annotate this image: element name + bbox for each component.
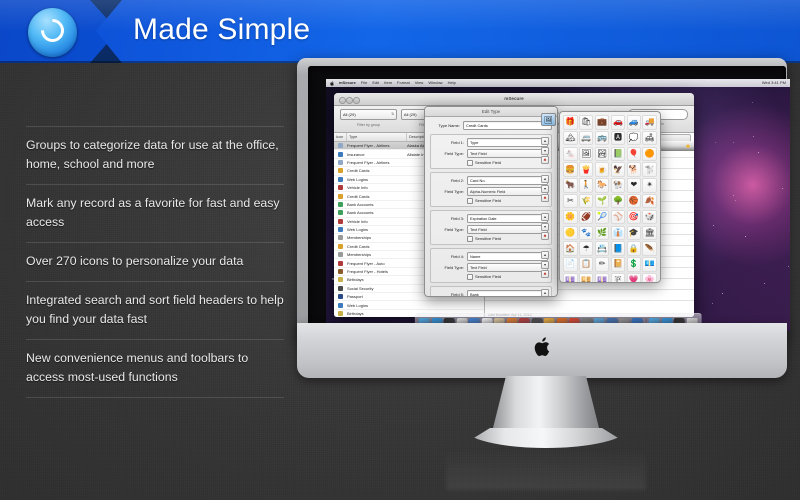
- delete-field-icon[interactable]: ✖: [541, 232, 549, 240]
- imac-chin: [297, 323, 787, 378]
- smile-circle-logo-icon: [28, 8, 77, 57]
- record-type-icon: [334, 143, 347, 148]
- field-group: Field 5:BankField Type:Text Field⇅Sensit…: [430, 286, 552, 297]
- record-type: Vehicle Info: [347, 219, 407, 224]
- icon-picker-cell[interactable]: 🌳: [611, 194, 626, 209]
- icon-picker-cell[interactable]: 🇵: [611, 273, 626, 283]
- icon-picker-cell[interactable]: 🏈: [579, 210, 594, 225]
- icon-picker-cell[interactable]: 🌸: [642, 273, 657, 283]
- header-banner: Made Simple: [0, 0, 800, 63]
- icon-picker-cell[interactable]: 💼: [595, 115, 610, 130]
- record-type: Frequent Flyer - Auto: [347, 261, 407, 266]
- icon-picker-cell[interactable]: 📘: [611, 241, 626, 256]
- move-up-icon[interactable]: ▲: [541, 213, 549, 221]
- delete-field-icon[interactable]: ✖: [541, 194, 549, 202]
- icon-picker-cell[interactable]: 🏀: [627, 194, 642, 209]
- group-filter-caption: Filter by group: [340, 123, 397, 127]
- menubar-item[interactable]: File: [361, 79, 367, 87]
- menubar-item[interactable]: Edit: [372, 79, 379, 87]
- field-index-label: Field 1:: [434, 140, 464, 145]
- imac-stand-neck: [492, 376, 600, 432]
- icon-picker-cell[interactable]: 🛋: [642, 131, 657, 146]
- chevron-updown-icon: ⇅: [391, 113, 394, 116]
- icon-picker-cell[interactable]: 📇: [595, 241, 610, 256]
- field-name-row: Field 1:Type: [434, 138, 548, 147]
- icon-picker-cell[interactable]: 💶: [642, 257, 657, 272]
- list-item: New convenience menus and toolbars to ac…: [26, 340, 284, 398]
- icon-picker-cell[interactable]: 🚐: [579, 131, 594, 146]
- icon-picker-cell[interactable]: 🐕: [627, 162, 642, 177]
- list-item: Integrated search and sort field headers…: [26, 282, 284, 340]
- icon-picker-cell[interactable]: 🛍: [579, 115, 594, 130]
- field-name-row: Field 3:Expiration Date: [434, 214, 548, 223]
- star-dot: [712, 303, 713, 304]
- icon-picker-cell[interactable]: 🔒: [627, 241, 642, 256]
- record-type: Frequent Flyer - Airlines: [347, 160, 407, 165]
- icon-picker-cell[interactable]: 🍺: [595, 162, 610, 177]
- record-type-icon: [334, 252, 347, 257]
- field-row-buttons: ▲▼✖: [541, 175, 549, 202]
- record-type-icon: [334, 303, 347, 308]
- record-type-icon: [334, 294, 347, 299]
- icon-picker-cell[interactable]: 🖼: [579, 147, 594, 162]
- type-name-input[interactable]: Credit Cards: [463, 121, 552, 130]
- record-type: Birthdays: [347, 311, 407, 316]
- sensitive-field-row[interactable]: Sensitive Field: [434, 274, 548, 280]
- icon-picker-cell[interactable]: 🦅: [611, 162, 626, 177]
- field-name-input[interactable]: Name: [467, 252, 548, 261]
- record-type: Memberships: [347, 252, 407, 257]
- field-type-label: Field Type:: [434, 227, 464, 232]
- icon-picker-palette[interactable]: 🎁🛍💼🚗🚙🚚🏔🚐🚌🅰💭🛋🐁🖼🏞📗🎈🟠🍔🍟🍺🦅🐕🐩🐂🚶🐎🐏❤✴✂🌾🌱🌳🏀🍂🌼🏈🎾⚾…: [559, 111, 661, 283]
- field-index-label: Field 2:: [434, 178, 464, 183]
- record-type: Web Logins: [347, 177, 407, 182]
- icon-picker-cell[interactable]: 🎈: [627, 147, 642, 162]
- record-type-icon: [334, 185, 347, 190]
- page-title: Made Simple: [133, 13, 310, 47]
- field-type-select[interactable]: Alpha-Numeric Field⇅: [467, 187, 548, 196]
- column-header-icon[interactable]: Icon: [334, 133, 347, 141]
- field-type-value: Text Field: [470, 227, 487, 232]
- icon-picker-cell[interactable]: 💭: [627, 131, 642, 146]
- field-type-select[interactable]: Text Field⇅: [467, 263, 548, 272]
- star-dot: [722, 293, 723, 294]
- record-type: Passport: [347, 294, 407, 299]
- record-type-icon: [334, 168, 347, 173]
- field-name-input[interactable]: Type: [467, 138, 548, 147]
- window-title: mSecure: [334, 96, 694, 101]
- sensitive-field-row[interactable]: Sensitive Field: [434, 160, 548, 166]
- field-type-select[interactable]: Text Field⇅: [467, 149, 548, 158]
- imac-bezel: mSecure File Edit Item Format View Windo…: [308, 66, 786, 330]
- field-row-buttons: ▲▼✖: [541, 251, 549, 278]
- sensitive-field-checkbox[interactable]: [467, 236, 473, 242]
- menubar-item[interactable]: Window: [428, 79, 442, 87]
- field-group: Field 1:TypeField Type:Text Field⇅Sensit…: [430, 134, 552, 169]
- record-type-icon: [334, 210, 347, 215]
- record-type-icon: [334, 152, 347, 157]
- field-row-buttons: ▲▼✖: [541, 213, 549, 240]
- icon-picker-cell[interactable]: 💴: [579, 273, 594, 283]
- record-type: Credit Cards: [347, 168, 407, 173]
- move-down-icon[interactable]: ▼: [541, 223, 549, 231]
- field-index-label: Field 3:: [434, 216, 464, 221]
- icon-picker-cell[interactable]: 🍔: [563, 162, 578, 177]
- record-type: Memberships: [347, 235, 407, 240]
- move-up-icon[interactable]: ▲: [541, 137, 549, 145]
- field-type-row: Field Type:Text Field⇅: [434, 263, 548, 272]
- field-type-row: Field Type:Text Field⇅: [434, 225, 548, 234]
- macos-menubar[interactable]: mSecure File Edit Item Format View Windo…: [326, 79, 790, 87]
- delete-field-icon[interactable]: ✖: [541, 156, 549, 164]
- sensitive-field-checkbox[interactable]: [467, 198, 473, 204]
- record-type: Web Logins: [347, 303, 407, 308]
- record-type: Credit Cards: [347, 244, 407, 249]
- record-type: Insurance: [347, 152, 407, 157]
- field-name-input[interactable]: Bank: [467, 290, 548, 298]
- icon-picker-cell[interactable]: ☂: [579, 241, 594, 256]
- icon-picker-cell[interactable]: 📗: [611, 147, 626, 162]
- icon-picker-cell[interactable]: 📋: [579, 257, 594, 272]
- field-type-label: Field Type:: [434, 265, 464, 270]
- record-type-icon: [334, 269, 347, 274]
- record-type-icon: [334, 286, 347, 291]
- icon-picker-cell[interactable]: 🏠: [563, 241, 578, 256]
- menubar-item[interactable]: mSecure: [339, 79, 356, 87]
- icon-picker-cell[interactable]: 🅰: [611, 131, 626, 146]
- field-type-select[interactable]: Text Field⇅: [467, 225, 548, 234]
- menubar-item[interactable]: Item: [384, 79, 392, 87]
- icon-picker-cell[interactable]: 🎓: [627, 226, 642, 241]
- dialog-body: Type Name: Credit Cards Field 1:TypeFiel…: [425, 117, 557, 297]
- group-filter-select[interactable]: All (29) ⇅: [340, 109, 397, 120]
- star-dot: [758, 152, 759, 153]
- field-type-row: Field Type:Text Field⇅: [434, 149, 548, 158]
- menubar-item[interactable]: View: [415, 79, 424, 87]
- record-type-icon: [334, 277, 347, 282]
- icon-picker-cell[interactable]: ✴: [642, 178, 657, 193]
- column-header-type[interactable]: Type: [347, 133, 407, 141]
- star-dot: [788, 266, 789, 267]
- icon-picker-cell[interactable]: 🐁: [563, 147, 578, 162]
- menubar-status-item[interactable]: Wed 3:41 PM: [762, 79, 786, 87]
- star-dot: [733, 195, 734, 196]
- sensitive-field-checkbox[interactable]: [467, 274, 473, 280]
- field-index-label: Field 4:: [434, 254, 464, 259]
- record-type-icon: [334, 227, 347, 232]
- field-name-row: Field 2:Card No.: [434, 176, 548, 185]
- delete-field-icon[interactable]: ✖: [541, 270, 549, 278]
- icon-picker-cell[interactable]: 🍟: [579, 162, 594, 177]
- star-dot: [745, 236, 746, 237]
- icon-picker-cell[interactable]: 🎁: [563, 115, 578, 130]
- icon-picker-cell[interactable]: 🐎: [595, 178, 610, 193]
- field-type-row: Field Type:Alpha-Numeric Field⇅: [434, 187, 548, 196]
- dialog-title: Edit Type: [425, 107, 557, 117]
- move-up-icon[interactable]: ▲: [541, 251, 549, 259]
- type-icon-button[interactable]: 🖼: [541, 113, 556, 126]
- window-titlebar[interactable]: mSecure: [334, 93, 694, 106]
- record-type: Credit Cards: [347, 194, 407, 199]
- record-type-icon: [334, 311, 347, 316]
- record-type-icon: [334, 194, 347, 199]
- sensitive-field-label: Sensitive Field: [475, 198, 501, 203]
- record-type: Frequent Flyer - Airlines: [347, 143, 407, 148]
- icon-picker-cell[interactable]: 🌱: [595, 194, 610, 209]
- record-type-icon: [334, 219, 347, 224]
- field-name-input[interactable]: Card No.: [467, 176, 548, 185]
- move-down-icon[interactable]: ▼: [541, 185, 549, 193]
- star-dot: [764, 283, 765, 284]
- list-item: Groups to categorize data for use at the…: [26, 126, 284, 185]
- field-name-row: Field 5:Bank: [434, 290, 548, 298]
- type-name-row: Type Name: Credit Cards: [430, 121, 552, 130]
- icon-picker-cell[interactable]: 📄: [563, 257, 578, 272]
- icon-picker-cell[interactable]: 💷: [563, 273, 578, 283]
- icon-picker-cell[interactable]: 🐂: [563, 178, 578, 193]
- icon-picker-cell[interactable]: 🏔: [563, 131, 578, 146]
- move-down-icon[interactable]: ▼: [541, 261, 549, 269]
- icon-picker-cell[interactable]: 🌾: [579, 194, 594, 209]
- icon-picker-cell[interactable]: 👔: [611, 226, 626, 241]
- imac-stand-foot: [464, 428, 628, 448]
- sensitive-field-label: Sensitive Field: [475, 274, 501, 279]
- field-row-buttons: ▲▼✖: [541, 137, 549, 164]
- icon-picker-cell[interactable]: ✂: [563, 194, 578, 209]
- icon-picker-cell[interactable]: ❤: [627, 178, 642, 193]
- field-index-label: Field 5:: [434, 292, 464, 297]
- field-name-row: Field 4:Name: [434, 252, 548, 261]
- field-type-label: Field Type:: [434, 189, 464, 194]
- record-type: Bank Accounts: [347, 210, 407, 215]
- icon-picker-cell[interactable]: 🐩: [642, 162, 657, 177]
- icon-picker-cell[interactable]: 🟡: [563, 226, 578, 241]
- field-type-value: Text Field: [470, 265, 487, 270]
- record-type-icon: [334, 177, 347, 182]
- move-up-icon[interactable]: ▲: [541, 289, 549, 297]
- star-dot: [713, 225, 714, 226]
- icon-picker-cell[interactable]: 🐏: [611, 178, 626, 193]
- type-filter-value: All (29): [404, 112, 417, 117]
- icon-picker-cell[interactable]: 🎯: [627, 210, 642, 225]
- list-item: Mark any record as a favorite for fast a…: [26, 185, 284, 243]
- dialog-fields: Field 1:TypeField Type:Text Field⇅Sensit…: [430, 134, 552, 297]
- icon-grid[interactable]: 🎁🛍💼🚗🚙🚚🏔🚐🚌🅰💭🛋🐁🖼🏞📗🎈🟠🍔🍟🍺🦅🐕🐩🐂🚶🐎🐏❤✴✂🌾🌱🌳🏀🍂🌼🏈🎾⚾…: [563, 115, 657, 283]
- group-filter-value: All (29): [343, 112, 356, 117]
- star-icon[interactable]: [685, 143, 691, 149]
- icon-picker-cell[interactable]: 🏞: [595, 147, 610, 162]
- field-name-input[interactable]: Expiration Date: [467, 214, 548, 223]
- icon-picker-cell[interactable]: 🐾: [579, 226, 594, 241]
- star-dot: [735, 200, 736, 201]
- record-type: Vehicle Info: [347, 185, 407, 190]
- icon-picker-cell[interactable]: 💲: [627, 257, 642, 272]
- record-type: Frequent Flyer - Hotels: [347, 269, 407, 274]
- move-down-icon[interactable]: ▼: [541, 147, 549, 155]
- move-up-icon[interactable]: ▲: [541, 175, 549, 183]
- icon-picker-cell[interactable]: 💗: [627, 273, 642, 283]
- icon-picker-cell[interactable]: 🚗: [611, 115, 626, 130]
- menubar-item[interactable]: Help: [448, 79, 456, 87]
- icon-picker-cell[interactable]: 🌿: [595, 226, 610, 241]
- icon-picker-cell[interactable]: 🚌: [595, 131, 610, 146]
- field-type-value: Text Field: [470, 151, 487, 156]
- menubar-item[interactable]: Format: [397, 79, 410, 87]
- icon-picker-cell[interactable]: 🪶: [642, 241, 657, 256]
- field-group: Field 3:Expiration DateField Type:Text F…: [430, 210, 552, 245]
- icon-picker-cell[interactable]: 🏛: [642, 226, 657, 241]
- record-type-icon: [334, 261, 347, 266]
- apple-logo-icon[interactable]: [330, 81, 334, 86]
- field-row-buttons: ▲▼✖: [541, 289, 549, 297]
- group-filter-popup[interactable]: All (29) ⇅ Filter by group: [340, 109, 397, 127]
- sensitive-field-checkbox[interactable]: [467, 160, 473, 166]
- record-type: Social Security: [347, 286, 407, 291]
- feature-list: Groups to categorize data for use at the…: [26, 126, 284, 398]
- icon-picker-cell[interactable]: 🟠: [642, 147, 657, 162]
- record-type: Bank Accounts: [347, 202, 407, 207]
- sensitive-field-row[interactable]: Sensitive Field: [434, 236, 548, 242]
- icon-picker-cell[interactable]: 🎲: [642, 210, 657, 225]
- icon-picker-cell[interactable]: ✏: [595, 257, 610, 272]
- record-type-icon: [334, 235, 347, 240]
- edit-type-dialog[interactable]: Edit Type Type Name: Credit Cards Field …: [424, 106, 558, 297]
- field-group: Field 4:NameField Type:Text Field⇅Sensit…: [430, 248, 552, 283]
- icon-picker-cell[interactable]: ⚾: [611, 210, 626, 225]
- imac-reflection: [446, 448, 646, 490]
- imac-display-housing: mSecure File Edit Item Format View Windo…: [297, 58, 787, 340]
- record-type-icon: [334, 202, 347, 207]
- record-type: Birthdays: [347, 277, 407, 282]
- icon-picker-cell[interactable]: 🌼: [563, 210, 578, 225]
- imac-screen: mSecure File Edit Item Format View Windo…: [326, 79, 790, 331]
- record-type-icon: [334, 244, 347, 249]
- table-row[interactable]: Web Logins: [334, 301, 484, 309]
- sensitive-field-label: Sensitive Field: [475, 160, 501, 165]
- apple-logo-icon: [534, 337, 551, 357]
- list-item: Over 270 icons to personalize your data: [26, 243, 284, 282]
- record-type-icon: [334, 160, 347, 165]
- field-type-value: Alpha-Numeric Field: [470, 189, 505, 194]
- icon-picker-cell[interactable]: 🍂: [642, 194, 657, 209]
- type-name-value: Credit Cards: [466, 123, 488, 128]
- imac-mockup: mSecure File Edit Item Format View Windo…: [292, 56, 800, 476]
- sensitive-field-label: Sensitive Field: [475, 236, 501, 241]
- star-dot: [715, 142, 716, 143]
- record-type: Web Logins: [347, 227, 407, 232]
- field-group: Field 2:Card No.Field Type:Alpha-Numeric…: [430, 172, 552, 207]
- star-dot: [782, 188, 783, 189]
- icon-picker-cell[interactable]: 💷: [595, 273, 610, 283]
- icon-picker-cell[interactable]: 🎾: [595, 210, 610, 225]
- logo-smile-shape: [36, 14, 69, 47]
- field-type-label: Field Type:: [434, 151, 464, 156]
- icon-picker-cell[interactable]: 🚶: [579, 178, 594, 193]
- star-dot: [752, 102, 753, 103]
- icon-picker-cell[interactable]: 🚚: [642, 115, 657, 130]
- icon-picker-cell[interactable]: 🚙: [627, 115, 642, 130]
- icon-picker-cell[interactable]: 📔: [611, 257, 626, 272]
- type-name-label: Type Name:: [430, 123, 460, 128]
- msecure-app-window[interactable]: mSecure All (29) ⇅ Filter by group: [334, 93, 694, 317]
- sensitive-field-row[interactable]: Sensitive Field: [434, 198, 548, 204]
